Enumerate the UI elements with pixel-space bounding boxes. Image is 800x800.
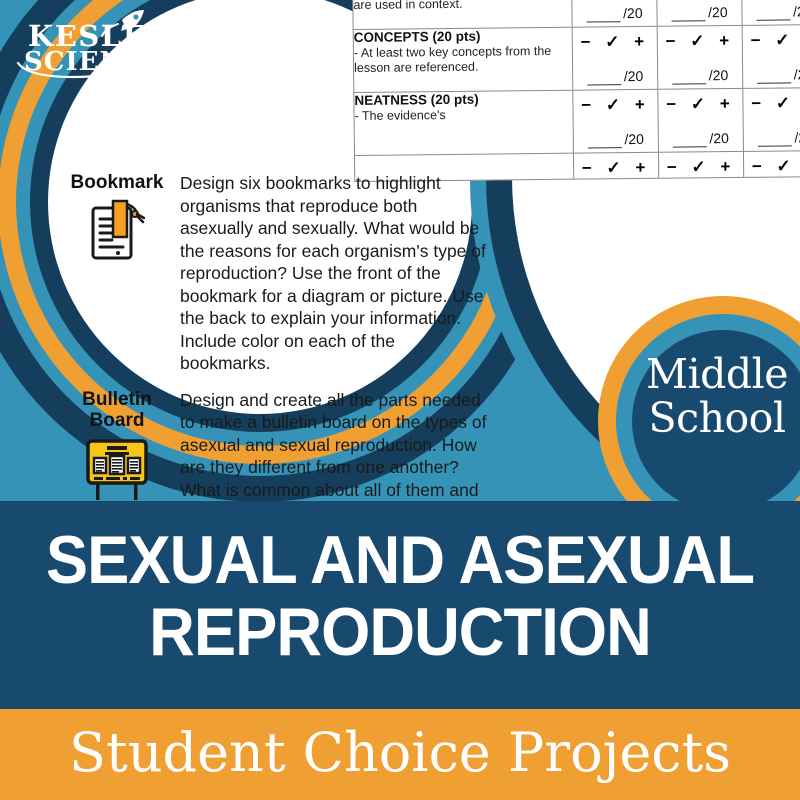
rubric-score-cell[interactable]: − ✓ + /20	[573, 89, 659, 153]
rubric-marks: − ✓ +	[743, 25, 800, 51]
bookmark-document-icon	[58, 199, 176, 261]
rubric-marks: − ✓ +	[658, 26, 742, 52]
rubric-score-cell[interactable]: − ✓ + /20	[743, 88, 800, 152]
rubric-score: /20	[573, 52, 657, 90]
project-name-cell: Bulletin Board	[58, 389, 176, 501]
rubric-score: /20	[742, 0, 800, 25]
rubric-criterion-cell: VOCABULARY (20 pts) - At least four word…	[353, 0, 573, 29]
rubric-criterion-title: NEATNESS (20 pts)	[354, 91, 572, 108]
project-description: Design six bookmarks to highlight organi…	[176, 172, 488, 375]
title-line-2: REPRODUCTION	[28, 596, 772, 668]
rubric-marks: − ✓ +	[659, 152, 743, 178]
rubric-score-cell[interactable]: − ✓ + /20	[742, 25, 800, 89]
project-name: Bookmark	[58, 172, 176, 193]
rubric-score-cell[interactable]: − ✓ + /20	[658, 88, 744, 152]
rubric-marks: − ✓ +	[573, 27, 657, 53]
rubric-document: VOCABULARY (20 pts) - At least four word…	[352, 0, 800, 182]
rubric-score: /20	[743, 50, 800, 88]
title-line-1: SEXUAL AND ASEXUAL	[28, 524, 772, 596]
svg-text:.COM: .COM	[146, 72, 177, 82]
list-item: Bookmark	[58, 172, 488, 375]
project-name: Bulletin Board	[58, 389, 176, 431]
grade-level-badge: Middle School	[624, 352, 800, 440]
rubric-score-cell[interactable]: − ✓ + /20	[571, 0, 657, 27]
rubric-score-cell[interactable]: − ✓ +	[573, 152, 658, 179]
rubric-criterion-desc: - The evidence's	[354, 107, 572, 124]
bulletin-board-icon	[58, 437, 176, 501]
product-cover-canvas: VOCABULARY (20 pts) - At least four word…	[0, 0, 800, 800]
project-name-cell: Bookmark	[58, 172, 176, 261]
rubric-criterion-desc: - At least two key concepts from the les…	[354, 44, 572, 75]
rubric-criterion-cell: CONCEPTS (20 pts) - At least two key con…	[353, 27, 573, 92]
rubric-table: VOCABULARY (20 pts) - At least four word…	[352, 0, 800, 182]
table-row: NEATNESS (20 pts) - The evidence's − ✓ +…	[354, 87, 800, 156]
rubric-criterion-desc: - At least four words from the lesson ar…	[353, 0, 571, 12]
rubric-marks: − ✓ +	[574, 153, 658, 179]
rubric-marks: − ✓ +	[744, 151, 800, 177]
rubric-score-cell[interactable]: − ✓ + /20	[572, 26, 658, 90]
rubric-score-cell[interactable]: − ✓ +	[658, 151, 743, 178]
rubric-marks: − ✓ +	[658, 89, 742, 115]
rubric-score: /20	[572, 0, 656, 27]
badge-line-1: Middle	[624, 352, 800, 396]
rubric-score: /20	[657, 0, 741, 26]
rubric-score: /20	[574, 115, 658, 153]
rubric-criterion-title: CONCEPTS (20 pts)	[354, 28, 572, 45]
rubric-marks: − ✓ +	[743, 88, 800, 114]
table-row: CONCEPTS (20 pts) - At least two key con…	[353, 24, 800, 93]
rubric-score-cell[interactable]: − ✓ +	[743, 151, 800, 178]
rubric-marks: − ✓ +	[573, 90, 657, 116]
rubric-score-cell[interactable]: − ✓ + /20	[741, 0, 800, 25]
rubric-score: /20	[744, 113, 800, 151]
rubric-score-cell[interactable]: − ✓ + /20	[657, 25, 743, 89]
page-subtitle: Student Choice Projects	[0, 722, 800, 784]
rubric-score: /20	[659, 114, 743, 152]
kesler-science-logo[interactable]: KESLER SCIENCE .COM	[14, 6, 184, 82]
page-title: SEXUAL AND ASEXUAL REPRODUCTION	[28, 524, 772, 668]
badge-line-2: School	[624, 396, 800, 440]
rubric-score: /20	[658, 51, 742, 89]
rubric-criterion-desc	[355, 155, 573, 157]
rubric-score-cell[interactable]: − ✓ + /20	[656, 0, 742, 26]
rubric-criterion-cell: NEATNESS (20 pts) - The evidence's	[354, 90, 574, 155]
